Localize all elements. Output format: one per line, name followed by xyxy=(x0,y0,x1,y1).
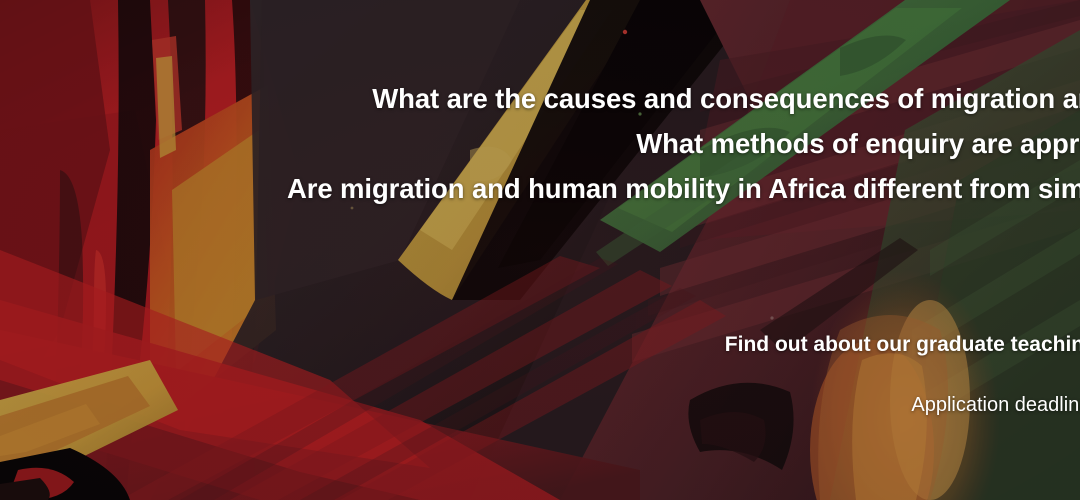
headline-questions: What are the causes and consequences of … xyxy=(0,76,1080,211)
application-deadline: Application deadline for 2021: 30 Januar… xyxy=(0,390,1080,420)
abstract-artwork-background xyxy=(0,0,1080,500)
headline-line-1: What are the causes and consequences of … xyxy=(0,76,1080,121)
footer-call-to-action: Find out about our graduate teaching pro… xyxy=(0,330,1080,420)
graduate-programmes-cta: Find out about our graduate teaching pro… xyxy=(0,330,1080,360)
website-url[interactable]: www.migration.ox.ac.uk xyxy=(0,360,1080,390)
promotional-banner: What are the causes and consequences of … xyxy=(0,0,1080,500)
headline-line-3: Are migration and human mobility in Afri… xyxy=(0,166,1080,211)
deadline-label: Application deadline for 2021: xyxy=(911,394,1080,416)
headline-line-2: What methods of enquiry are appropriate … xyxy=(0,121,1080,166)
